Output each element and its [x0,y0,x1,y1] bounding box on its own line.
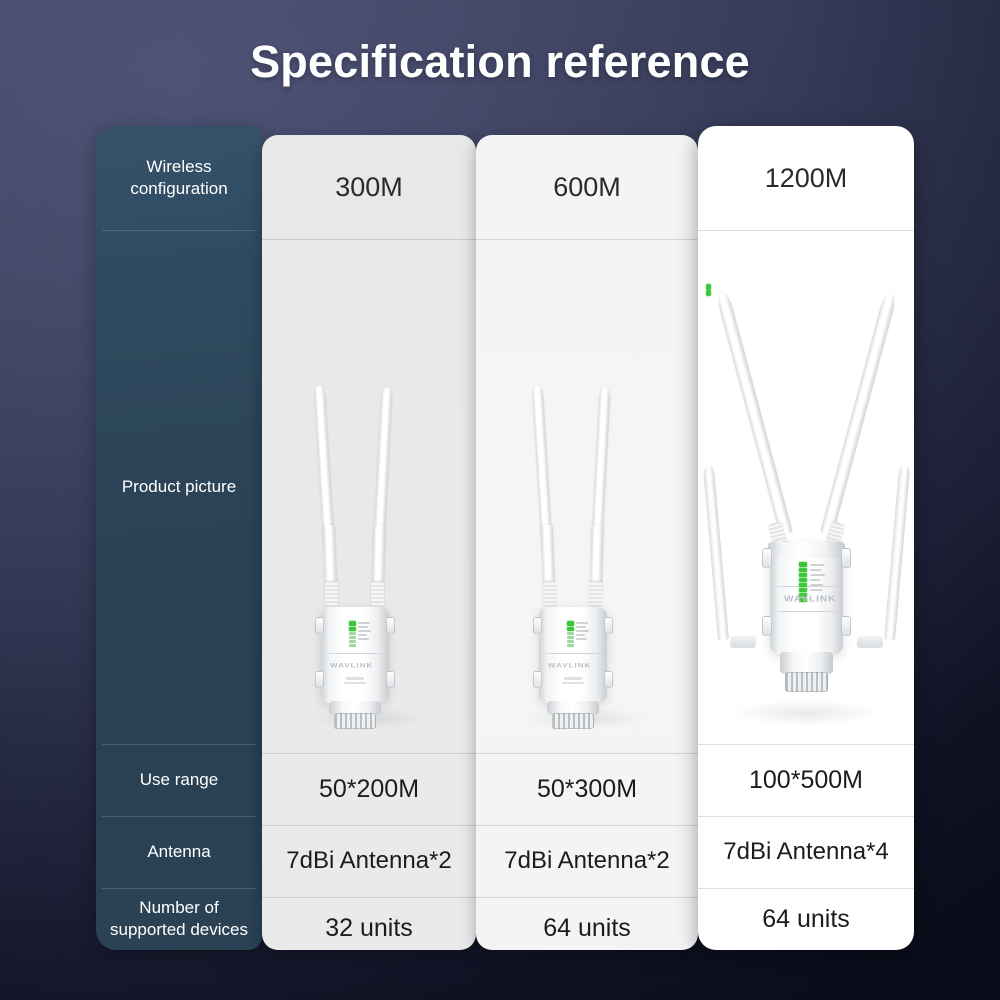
base-mount [334,713,376,729]
use-range-1200m: 100*500M [698,744,914,816]
product-picture-label: Product picture [122,476,236,498]
row-label-wireless-configuration: Wireless configuration [96,126,262,230]
wavlink-logo: WAVLINK [784,595,836,605]
mount-tab-icon [386,671,395,688]
spec-column-300m[interactable]: 300M [262,135,476,950]
mount-tab-icon [762,616,772,636]
mount-tab-icon [762,548,772,568]
spec-column-600m[interactable]: 600M [476,135,698,950]
antenna-label: Antenna [147,841,210,863]
use-range-300m: 50*200M [262,753,476,825]
product-image-1200m: WAVLINK [698,230,914,744]
mount-tab-icon [533,617,542,634]
mount-tab-icon [841,616,851,636]
row-label-use-range: Use range [96,744,262,816]
row-label-product-picture: Product picture [96,230,262,744]
page-title: Specification reference [0,36,1000,88]
supported-devices-300m: 32 units [262,897,476,959]
base-mount [785,672,828,692]
mount-tab-icon [604,671,613,688]
product-image-300m: WAVLINK [262,239,476,753]
supported-devices-line2: supported devices [110,920,248,939]
supported-devices-600m: 64 units [476,897,698,959]
wireless-config-line2: configuration [130,179,227,198]
row-label-supported-devices: Number of supported devices [96,888,262,950]
supported-devices-1200m: 64 units [698,888,914,950]
supported-devices-line1: Number of [139,898,218,917]
row-label-column: Wireless configuration Product picture U… [96,126,262,950]
column-header-600m: 600M [476,135,698,239]
specification-table: Wireless configuration Product picture U… [96,126,914,950]
antenna-300m: 7dBi Antenna*2 [262,825,476,897]
mount-tab-icon [386,617,395,634]
column-header-300m: 300M [262,135,476,239]
spec-column-1200m[interactable]: 1200M [698,126,914,950]
wavlink-logo: WAVLINK [548,662,591,670]
antenna-1200m: 7dBi Antenna*4 [698,816,914,888]
column-header-1200m: 1200M [698,126,914,230]
mount-tab-icon [604,617,613,634]
mount-tab-icon [315,617,324,634]
product-image-600m: WAVLINK [476,239,698,753]
mount-tab-icon [315,671,324,688]
led-indicator-group [567,621,574,647]
use-range-600m: 50*300M [476,753,698,825]
use-range-label: Use range [140,769,218,791]
wireless-config-line1: Wireless [146,157,211,176]
wavlink-logo: WAVLINK [330,662,373,670]
row-label-antenna: Antenna [96,816,262,888]
antenna-600m: 7dBi Antenna*2 [476,825,698,897]
mount-tab-icon [841,548,851,568]
mount-tab-icon [533,671,542,688]
led-indicator-group [349,621,356,647]
base-mount [552,713,594,729]
